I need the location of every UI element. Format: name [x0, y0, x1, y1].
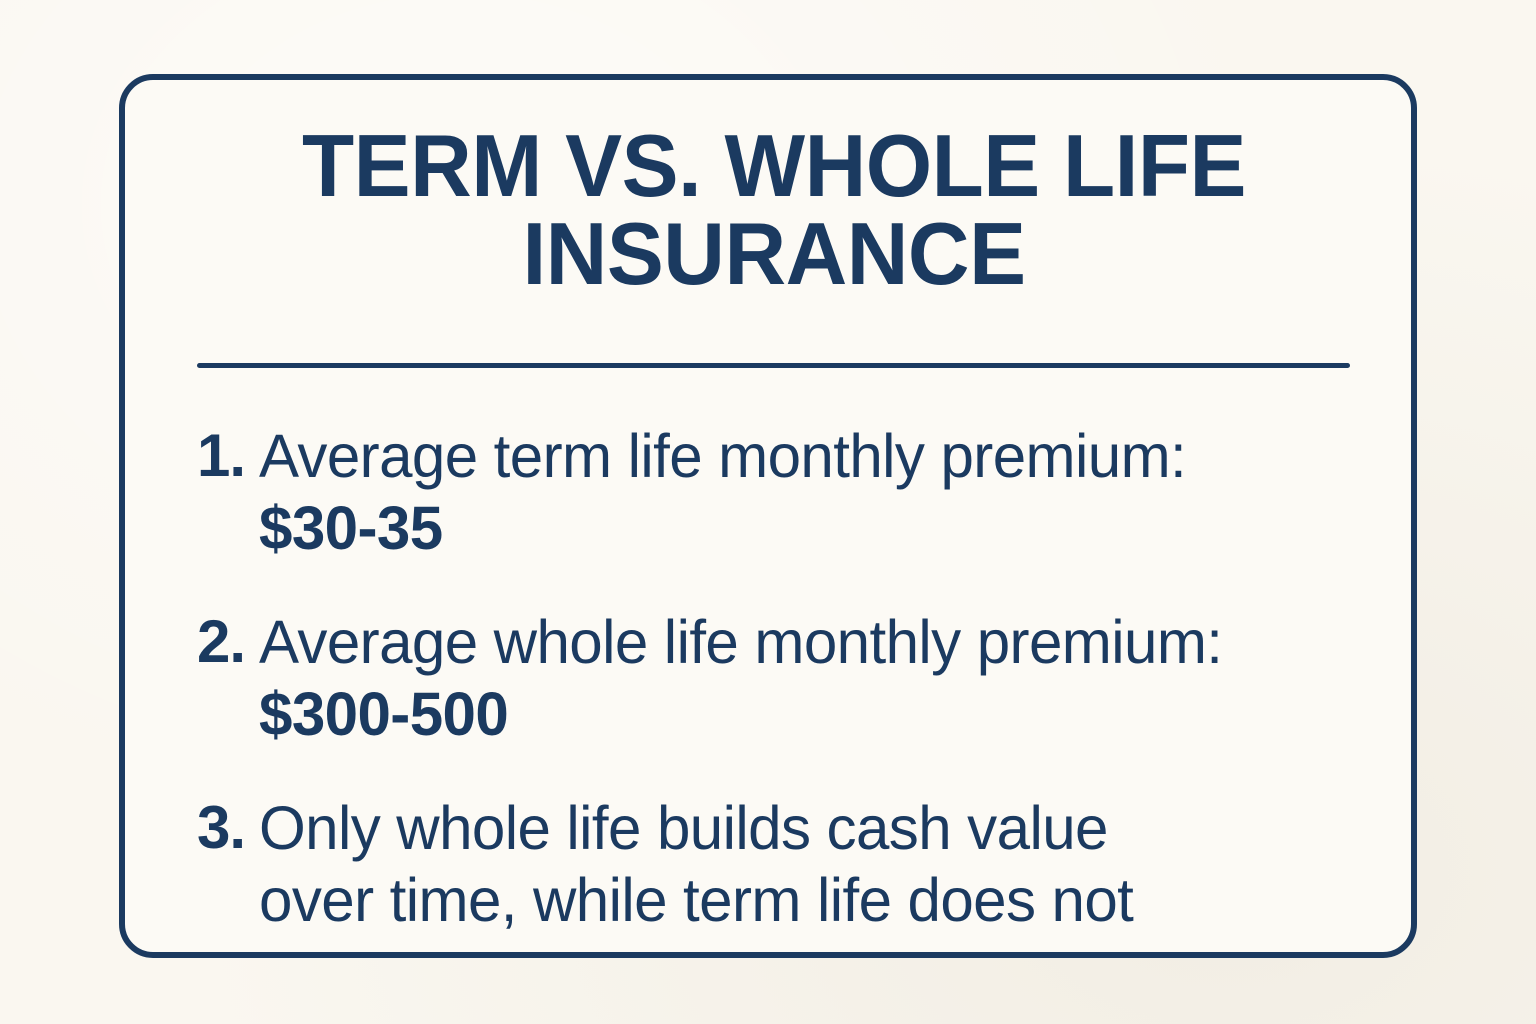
list-item-body-line-2: over time, while term life does not	[259, 864, 1365, 936]
list-item-body: Average whole life monthly premium:	[259, 608, 1222, 676]
info-card: TERM VS. WHOLE LIFE INSURANCE 1. Average…	[119, 74, 1417, 958]
list-item-text: Average whole life monthly premium: $300…	[259, 606, 1365, 750]
list-item: 1. Average term life monthly premium: $3…	[197, 420, 1382, 564]
list-item-emphasis: $300-500	[259, 678, 1365, 750]
list-item: 2. Average whole life monthly premium: $…	[197, 606, 1382, 750]
list-item-emphasis: $30-35	[259, 492, 1365, 564]
list-item-body-line-1: Only whole life builds cash value	[259, 792, 1365, 864]
infographic-root: TERM VS. WHOLE LIFE INSURANCE 1. Average…	[0, 0, 1536, 1024]
page-title-line-1: TERM VS. WHOLE LIFE	[203, 122, 1346, 210]
page-title-line-2: INSURANCE	[203, 210, 1346, 298]
list-item-number: 3.	[197, 792, 259, 864]
title-divider	[197, 363, 1350, 368]
list-item: 3. Only whole life builds cash value ove…	[197, 792, 1382, 936]
list-item-body: Average term life monthly premium:	[259, 422, 1186, 490]
numbered-list: 1. Average term life monthly premium: $3…	[197, 420, 1382, 936]
page-title: TERM VS. WHOLE LIFE INSURANCE	[203, 122, 1346, 298]
list-item-number: 1.	[197, 420, 259, 492]
list-item-text: Only whole life builds cash value over t…	[259, 792, 1365, 936]
list-item-text: Average term life monthly premium: $30-3…	[259, 420, 1365, 564]
info-card-content: TERM VS. WHOLE LIFE INSURANCE 1. Average…	[125, 80, 1411, 952]
list-item-number: 2.	[197, 606, 259, 678]
